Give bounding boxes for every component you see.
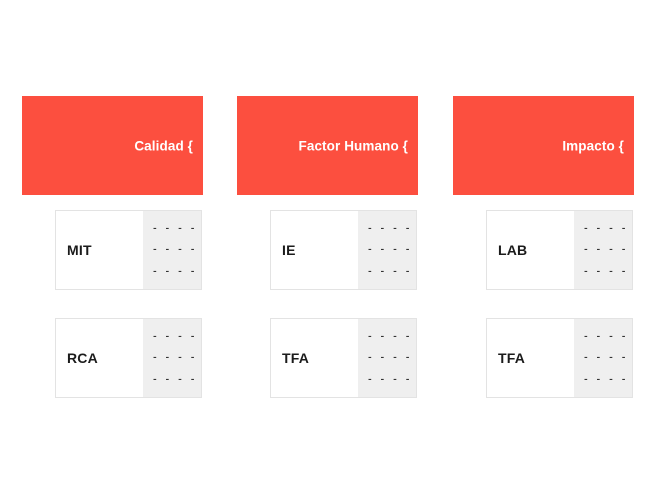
item-card-meta-line: - - - -	[152, 375, 196, 385]
item-card[interactable]: LAB - - - - - - - - - - - -	[486, 210, 633, 290]
item-card-code-area: MIT	[56, 211, 143, 289]
item-card-meta-line: - - - -	[152, 224, 196, 234]
item-card-meta-line: - - - -	[367, 375, 411, 385]
item-card-code: LAB	[498, 243, 527, 257]
category-header-calidad[interactable]: Calidad {	[22, 96, 203, 195]
item-card-meta-line: - - - -	[367, 245, 411, 255]
item-card-code: RCA	[67, 351, 98, 365]
item-card[interactable]: TFA - - - - - - - - - - - -	[486, 318, 633, 398]
item-card-meta-line: - - - -	[583, 332, 627, 342]
category-header-label: Calidad {	[134, 139, 193, 153]
item-card-code: TFA	[282, 351, 309, 365]
item-card[interactable]: TFA - - - - - - - - - - - -	[270, 318, 417, 398]
category-header-factor-humano[interactable]: Factor Humano {	[237, 96, 418, 195]
diagram-canvas: Calidad { MIT - - - - - - - - - - - - RC…	[0, 0, 655, 478]
item-card-code-area: TFA	[487, 319, 574, 397]
item-card-meta-line: - - - -	[583, 245, 627, 255]
item-card-code-area: RCA	[56, 319, 143, 397]
category-header-label: Impacto {	[562, 139, 624, 153]
item-card-meta-line: - - - -	[152, 245, 196, 255]
item-card-meta-area: - - - - - - - - - - - -	[574, 211, 632, 289]
item-card-meta-line: - - - -	[152, 267, 196, 277]
item-card-meta-area: - - - - - - - - - - - -	[574, 319, 632, 397]
item-card[interactable]: IE - - - - - - - - - - - -	[270, 210, 417, 290]
category-column-impacto: Impacto { LAB - - - - - - - - - - - - TF…	[453, 96, 634, 195]
item-card-meta-area: - - - - - - - - - - - -	[143, 319, 201, 397]
item-card-meta-line: - - - -	[583, 224, 627, 234]
item-card-meta-line: - - - -	[152, 353, 196, 363]
item-card-meta-line: - - - -	[583, 375, 627, 385]
category-column-factor-humano: Factor Humano { IE - - - - - - - - - - -…	[237, 96, 418, 195]
item-card-code-area: TFA	[271, 319, 358, 397]
item-card-meta-area: - - - - - - - - - - - -	[358, 319, 416, 397]
item-card-code: MIT	[67, 243, 92, 257]
item-card-code: IE	[282, 243, 296, 257]
item-card-code-area: LAB	[487, 211, 574, 289]
item-card[interactable]: RCA - - - - - - - - - - - -	[55, 318, 202, 398]
item-card[interactable]: MIT - - - - - - - - - - - -	[55, 210, 202, 290]
item-card-meta-line: - - - -	[583, 267, 627, 277]
item-card-meta-line: - - - -	[367, 332, 411, 342]
item-card-meta-line: - - - -	[367, 353, 411, 363]
item-card-meta-line: - - - -	[583, 353, 627, 363]
item-card-code-area: IE	[271, 211, 358, 289]
item-card-meta-line: - - - -	[152, 332, 196, 342]
item-card-meta-line: - - - -	[367, 267, 411, 277]
category-header-impacto[interactable]: Impacto {	[453, 96, 634, 195]
category-column-calidad: Calidad { MIT - - - - - - - - - - - - RC…	[22, 96, 203, 195]
item-card-code: TFA	[498, 351, 525, 365]
category-header-label: Factor Humano {	[298, 139, 408, 153]
item-card-meta-area: - - - - - - - - - - - -	[143, 211, 201, 289]
item-card-meta-line: - - - -	[367, 224, 411, 234]
item-card-meta-area: - - - - - - - - - - - -	[358, 211, 416, 289]
